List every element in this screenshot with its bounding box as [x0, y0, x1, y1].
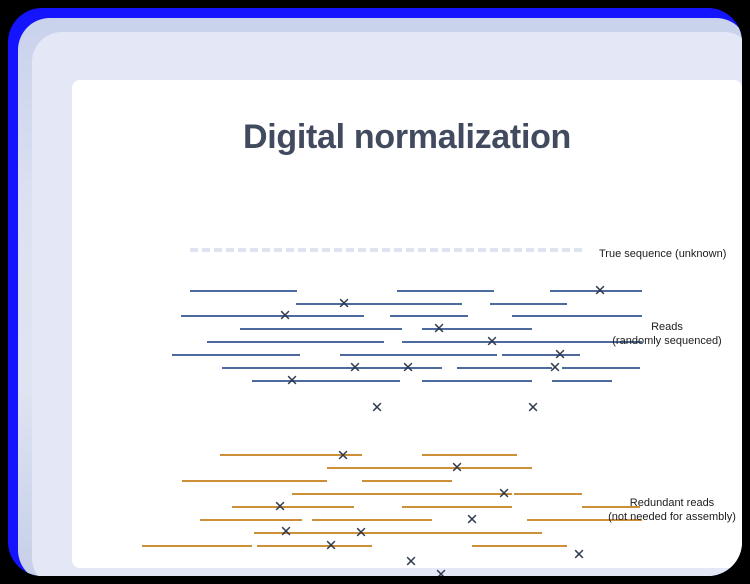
redundant-variant-x-icon: ✕	[435, 569, 448, 577]
read-variant-x-icon: ✕	[349, 362, 362, 375]
redundant-read-segment	[442, 532, 542, 534]
read-segment	[172, 354, 300, 356]
redundant-read-segment	[142, 545, 252, 547]
read-segment	[512, 315, 592, 317]
read-segment	[207, 341, 384, 343]
redundant-variant-x-icon: ✕	[337, 450, 350, 463]
read-segment	[400, 354, 497, 356]
redundant-read-segment	[327, 467, 402, 469]
redundant-variant-x-icon: ✕	[573, 549, 586, 562]
true-sequence-label: True sequence (unknown)	[599, 247, 726, 261]
true-sequence-label-line-1: True sequence (unknown)	[599, 247, 726, 261]
read-segment	[240, 328, 402, 330]
redundant-read-segment	[200, 519, 302, 521]
slide: Digital normalization ✕✕✕✕✕✕✕✕✕✕✕✕✕✕✕✕✕✕…	[72, 80, 742, 568]
redundant-variant-x-icon: ✕	[498, 488, 511, 501]
redundant-read-segment	[182, 480, 327, 482]
read-variant-x-icon: ✕	[433, 323, 446, 336]
read-variant-x-icon: ✕	[486, 336, 499, 349]
device-frame-outer: Digital normalization ✕✕✕✕✕✕✕✕✕✕✕✕✕✕✕✕✕✕…	[8, 8, 742, 576]
read-variant-x-icon: ✕	[338, 298, 351, 311]
read-variant-x-icon: ✕	[286, 375, 299, 388]
read-segment	[490, 303, 567, 305]
read-segment	[422, 380, 532, 382]
redundant-reads-label: Redundant reads(not needed for assembly)	[608, 496, 736, 524]
read-variant-x-icon: ✕	[549, 362, 562, 375]
redundant-read-segment	[254, 532, 367, 534]
read-segment	[390, 315, 468, 317]
redundant-read-segment	[472, 545, 567, 547]
read-segment	[552, 380, 612, 382]
read-variant-x-icon: ✕	[279, 310, 292, 323]
device-bezel-inner: Digital normalization ✕✕✕✕✕✕✕✕✕✕✕✕✕✕✕✕✕✕…	[32, 32, 742, 576]
read-segment	[294, 380, 400, 382]
read-variant-x-icon: ✕	[594, 285, 607, 298]
redundant-variant-x-icon: ✕	[325, 540, 338, 553]
slide-card: Digital normalization ✕✕✕✕✕✕✕✕✕✕✕✕✕✕✕✕✕✕…	[72, 80, 742, 568]
redundant-read-segment	[372, 480, 452, 482]
redundant-variant-x-icon: ✕	[355, 527, 368, 540]
true-sequence-line	[190, 248, 582, 252]
reads-label-line-1: Reads	[612, 320, 721, 334]
redundant-variant-x-icon: ✕	[466, 514, 479, 527]
read-segment	[502, 354, 580, 356]
read-segment	[397, 290, 494, 292]
redundant-reads-label-line-2: (not needed for assembly)	[608, 510, 736, 524]
read-segment	[222, 367, 337, 369]
read-segment	[322, 315, 364, 317]
redundant-read-segment	[292, 493, 432, 495]
read-segment	[457, 367, 552, 369]
redundant-read-segment	[312, 519, 432, 521]
redundant-read-segment	[412, 467, 522, 469]
redundant-read-segment	[232, 506, 354, 508]
sequence-coverage-diagram: ✕✕✕✕✕✕✕✕✕✕✕✕✕✕✕✕✕✕✕✕✕✕✕✕True sequence (u…	[72, 80, 742, 568]
read-segment	[467, 341, 560, 343]
reads-label: Reads(randomly sequenced)	[612, 320, 721, 348]
read-segment	[562, 367, 640, 369]
redundant-read-segment	[402, 506, 512, 508]
device-bezel: Digital normalization ✕✕✕✕✕✕✕✕✕✕✕✕✕✕✕✕✕✕…	[18, 18, 742, 576]
redundant-reads-label-line-1: Redundant reads	[608, 496, 736, 510]
redundant-read-segment	[257, 545, 372, 547]
redundant-read-segment	[514, 493, 582, 495]
read-variant-x-icon: ✕	[371, 402, 384, 415]
read-segment	[397, 303, 462, 305]
redundant-read-segment	[422, 454, 517, 456]
redundant-variant-x-icon: ✕	[451, 462, 464, 475]
redundant-variant-x-icon: ✕	[405, 556, 418, 569]
read-segment	[181, 315, 322, 317]
read-variant-x-icon: ✕	[527, 402, 540, 415]
reads-label-line-2: (randomly sequenced)	[612, 334, 721, 348]
read-segment	[442, 328, 532, 330]
redundant-variant-x-icon: ✕	[280, 526, 293, 539]
read-variant-x-icon: ✕	[402, 362, 415, 375]
screenshot-root: Digital normalization ✕✕✕✕✕✕✕✕✕✕✕✕✕✕✕✕✕✕…	[0, 0, 750, 584]
read-segment	[190, 290, 297, 292]
redundant-variant-x-icon: ✕	[274, 501, 287, 514]
